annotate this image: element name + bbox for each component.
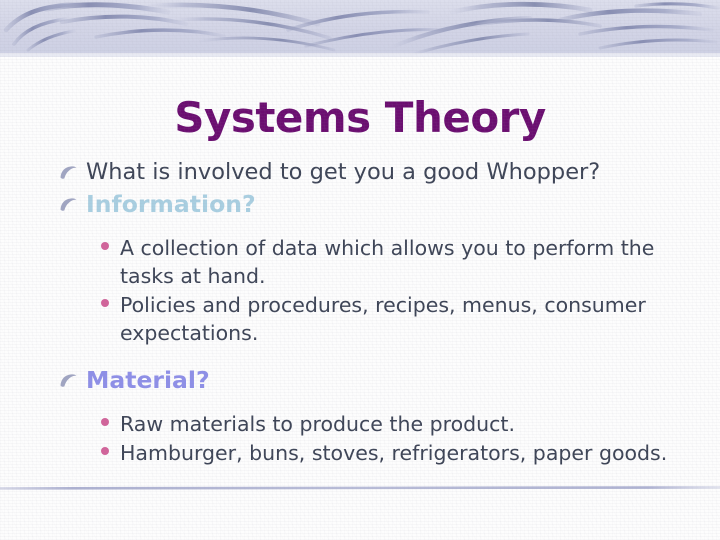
bullet-item-level1-information: Information? — [0, 190, 720, 220]
bullet-item-level1: What is involved to get you a good Whopp… — [0, 158, 720, 188]
slide-title: Systems Theory — [0, 96, 720, 140]
bullet-text: Raw materials to produce the product. — [120, 410, 515, 438]
spacer — [0, 348, 720, 366]
dot-bullet-icon — [101, 418, 120, 446]
bullet-text: What is involved to get you a good Whopp… — [86, 158, 600, 187]
bullet-text: Hamburger, buns, stoves, refrigerators, … — [120, 439, 667, 467]
spacer — [0, 222, 720, 234]
crescent-bullet-icon — [58, 164, 86, 194]
bullet-text: A collection of data which allows you to… — [120, 234, 690, 290]
footer-divider — [0, 486, 720, 490]
dot-bullet-icon — [101, 447, 120, 475]
bullet-item-level2: A collection of data which allows you to… — [0, 234, 720, 290]
slide-body: What is involved to get you a good Whopp… — [0, 158, 720, 468]
bullet-item-level2: Raw materials to produce the product. — [0, 410, 720, 438]
bullet-text: Material? — [86, 366, 210, 395]
bullet-text: Policies and procedures, recipes, menus,… — [120, 291, 690, 347]
crescent-bullet-icon — [58, 372, 86, 402]
bullet-text: Information? — [86, 190, 256, 219]
spacer — [0, 398, 720, 410]
bullet-item-level2: Policies and procedures, recipes, menus,… — [0, 291, 720, 347]
crescent-bullet-icon — [58, 196, 86, 226]
presentation-slide: Systems Theory What is involved to get y… — [0, 0, 720, 540]
bullet-item-level1-material: Material? — [0, 366, 720, 396]
dot-bullet-icon — [101, 299, 120, 327]
header-decoration-band — [0, 0, 720, 58]
dot-bullet-icon — [101, 242, 120, 270]
